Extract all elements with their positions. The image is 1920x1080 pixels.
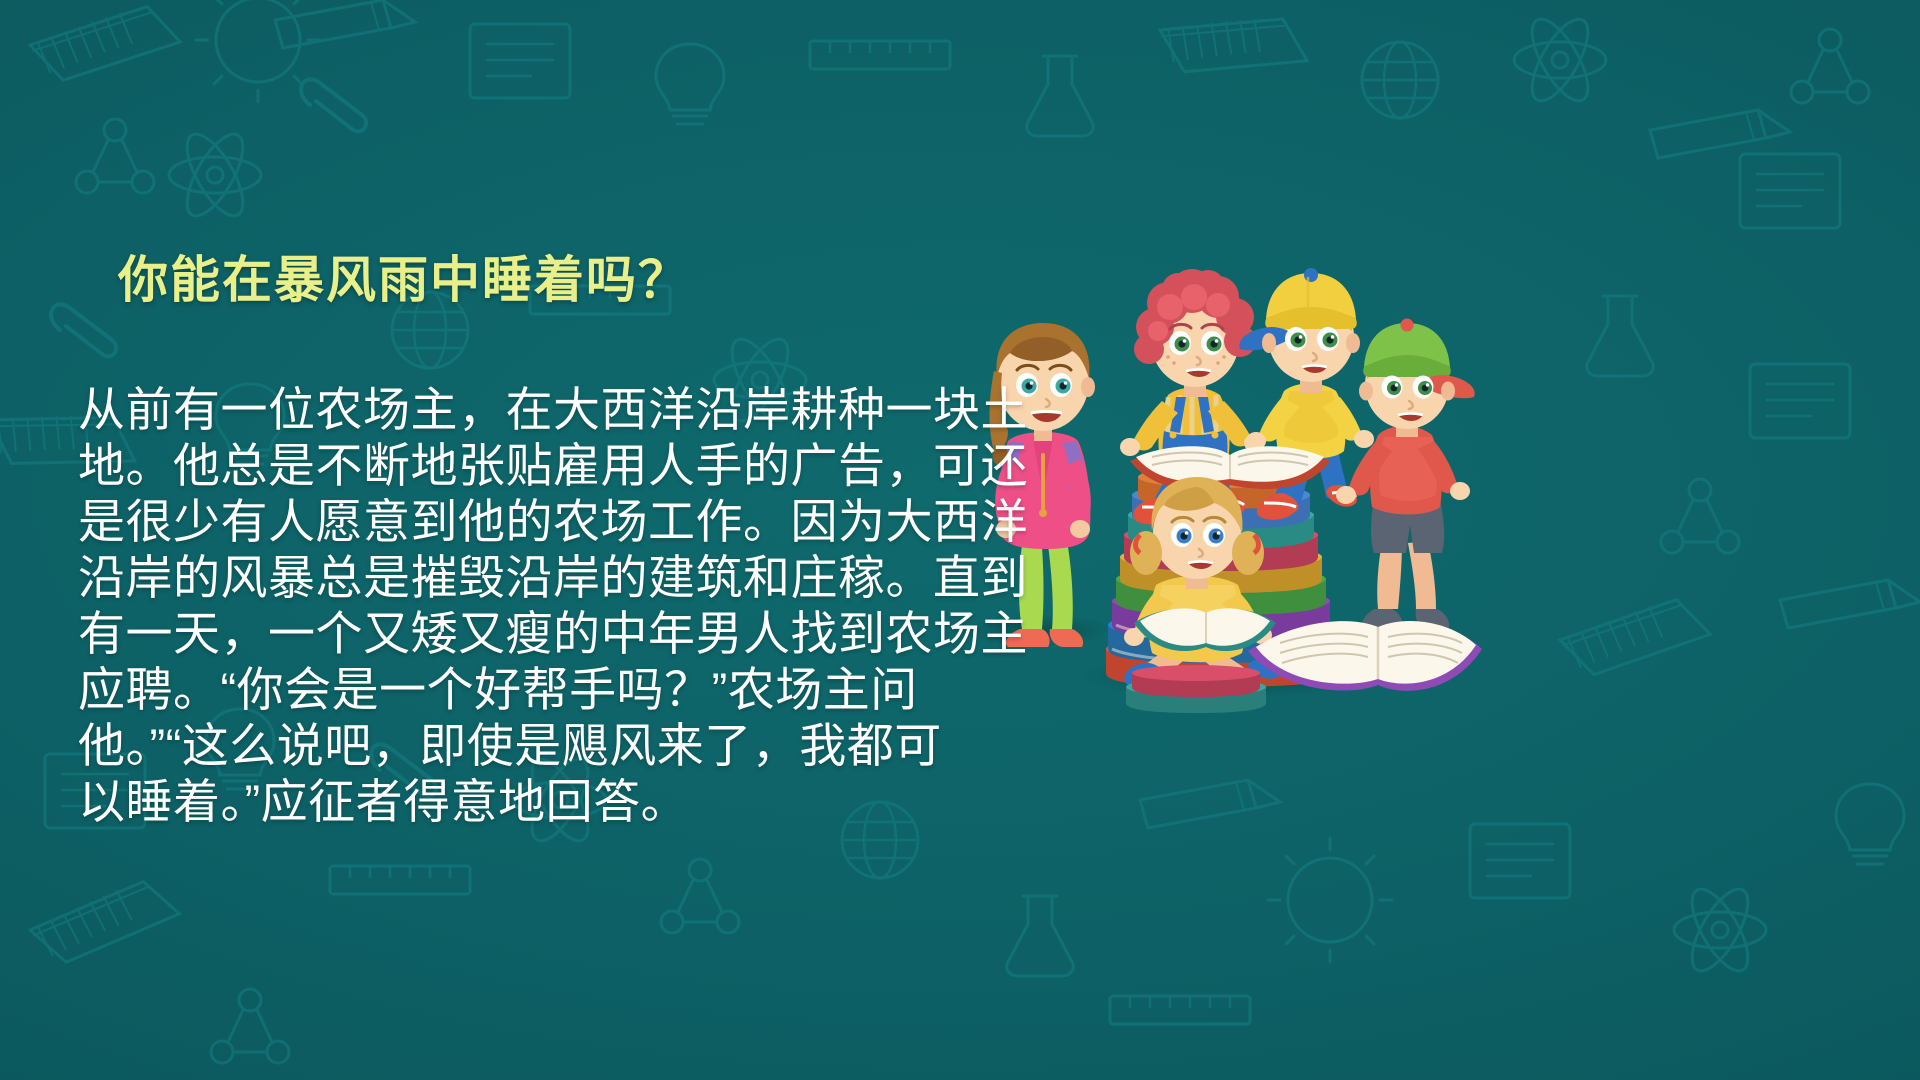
body-line: 地。他总是不断地张贴雇用人手的广告，可还 [78, 438, 958, 494]
body-line: 以睡着。”应征者得意地回答。 [78, 774, 958, 830]
body-line: 是很少有人愿意到他的农场工作。因为大西洋 [78, 494, 958, 550]
body-line: 应聘。“你会是一个好帮手吗？”农场主问 [78, 662, 958, 718]
page-title: 你能在暴风雨中睡着吗？ [118, 254, 690, 307]
slide-canvas: 你能在暴风雨中睡着吗？ 从前有一位农场主，在大西洋沿岸耕种一块土 地。他总是不断… [0, 0, 1920, 1080]
child-boy-green-cap [1336, 319, 1475, 632]
body-paragraph: 从前有一位农场主，在大西洋沿岸耕种一块土 地。他总是不断地张贴雇用人手的广告，可… [78, 382, 958, 830]
open-book-on-stack [1130, 446, 1330, 489]
small-book-stack [1126, 665, 1266, 713]
body-line: 从前有一位农场主，在大西洋沿岸耕种一块土 [78, 382, 958, 438]
body-line: 沿岸的风暴总是摧毁沿岸的建筑和庄稼。直到 [78, 550, 958, 606]
title-block: 你能在暴风雨中睡着吗？ [118, 254, 690, 307]
body-line: 有一天，一个又矮又瘦的中年男人找到农场主 [78, 606, 958, 662]
body-line: 他。”“这么说吧，即使是飓风来了，我都可 [78, 718, 958, 774]
